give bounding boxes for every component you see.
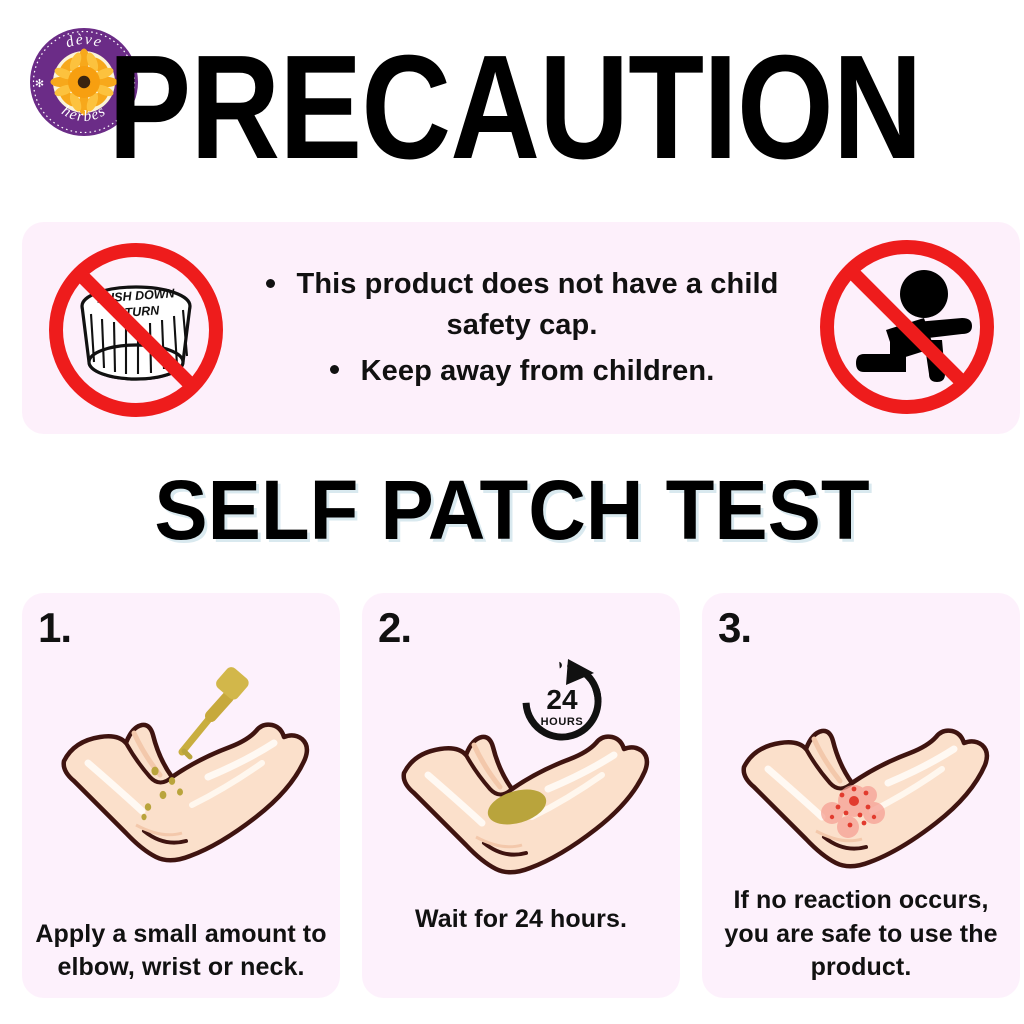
elbow-with-rash-illustration [702,655,1020,885]
bullet-icon [266,279,275,288]
list-item: Keep away from children. [330,351,715,392]
elbow-with-dropper-illustration [22,655,340,885]
prohibition-sign [56,250,216,410]
badge-unit: HOURS [541,716,584,728]
step-number-1: 1. [38,607,71,649]
step-2-svg: 24 HOURS [362,655,680,885]
logo-left-asterisk: ✻ [35,78,44,90]
step-card-3: 3. [702,593,1020,998]
page-title: PRECAUTION [229,18,800,198]
step-card-1: 1. [22,593,340,998]
step-number-2: 2. [378,607,411,649]
badge-value: 24 [546,684,578,715]
precaution-text-1: This product does not have a child safet… [297,268,779,341]
step-1-svg [22,655,340,885]
list-item: This product does not have a child safet… [222,264,822,346]
step-card-2: 2. 24 HOU [362,593,680,998]
no-child-svg [812,236,1002,418]
precaution-text-2: Keep away from children. [361,355,715,387]
elbow-arm-shape [404,737,647,873]
no-child-safety-cap-icon: PUSH DOWN & TURN [36,238,236,418]
no-children-icon [812,236,1002,418]
step-caption-3: If no reaction occurs, you are safe to u… [712,884,1010,984]
bullet-icon [330,365,339,374]
precaution-panel: PUSH DOWN & TURN This product does not h… [22,222,1020,434]
section-title-self-patch-test: SELF PATCH TEST [26,468,999,552]
step-caption-1: Apply a small amount to elbow, wrist or … [32,918,330,985]
step-3-svg [702,655,1020,885]
no-cap-svg: PUSH DOWN & TURN [36,238,236,418]
step-caption-2: Wait for 24 hours. [372,903,670,936]
self-patch-test-steps: 1. [22,593,1020,998]
step-number-3: 3. [718,607,751,649]
precaution-list: This product does not have a child safet… [222,222,822,434]
clock-24-hours-badge: 24 HOURS [513,655,610,750]
elbow-with-24-hours-clock-illustration: 24 HOURS [362,655,680,885]
